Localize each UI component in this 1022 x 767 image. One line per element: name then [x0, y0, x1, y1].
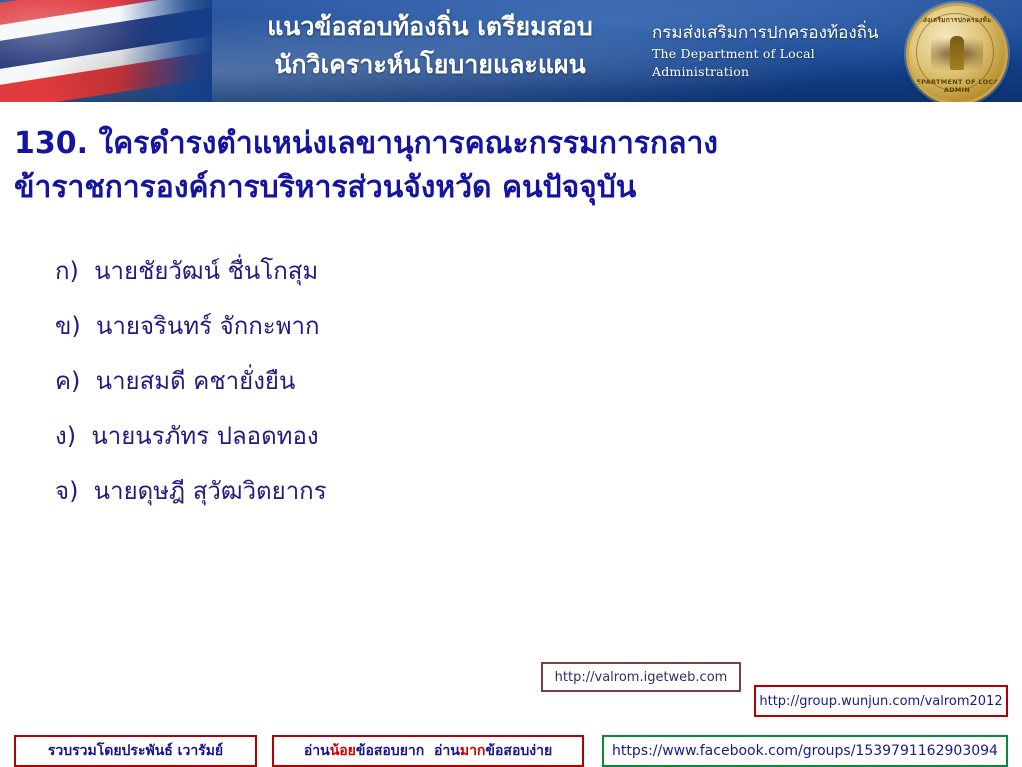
- motto-red-1: น้อย: [330, 740, 356, 762]
- motto-red-2: มาก: [460, 740, 486, 762]
- choice-item-a[interactable]: ก) นายชัยวัฒน์ ชื่นโกสุม: [55, 244, 935, 299]
- question-line-1: 130. ใครดำรงตำแหน่งเลขานุการคณะกรรมการกล…: [14, 122, 1004, 166]
- facebook-group-link[interactable]: https://www.facebook.com/groups/15397911…: [602, 735, 1008, 767]
- banner-title: แนวข้อสอบท้องถิ่น เตรียมสอบ นักวิเคราะห์…: [210, 8, 650, 84]
- question-line-2: ข้าราชการองค์การบริหารส่วนจังหวัด คนปัจจ…: [14, 166, 1004, 210]
- seal-text-bottom: DEPARTMENT OF LOCAL ADMIN: [909, 78, 1005, 94]
- header-banner: แนวข้อสอบท้องถิ่น เตรียมสอบ นักวิเคราะห์…: [0, 0, 1022, 102]
- thai-flag-icon: [0, 0, 212, 102]
- valrom-website-link[interactable]: http://valrom.igetweb.com: [541, 662, 741, 692]
- department-name: กรมส่งเสริมการปกครองท้องถิ่น The Departm…: [652, 22, 912, 81]
- choice-item-e[interactable]: จ) นายดุษฎี สุวัฒวิตยากร: [55, 464, 935, 519]
- choice-list: ก) นายชัยวัฒน์ ชื่นโกสุม ข) นายจรินทร์ จ…: [55, 244, 935, 519]
- banner-title-line1: แนวข้อสอบท้องถิ่น เตรียมสอบ: [267, 12, 593, 41]
- department-name-th: กรมส่งเสริมการปกครองท้องถิ่น: [652, 22, 912, 45]
- wunjun-group-link[interactable]: http://group.wunjun.com/valrom2012: [754, 685, 1008, 717]
- choice-item-b[interactable]: ข) นายจรินทร์ จักกะพาก: [55, 299, 935, 354]
- choice-item-c[interactable]: ค) นายสมดี คชายั่งยืน: [55, 354, 935, 409]
- question-text: 130. ใครดำรงตำแหน่งเลขานุการคณะกรรมการกล…: [14, 122, 1004, 210]
- motto-part-5: ง่าย: [529, 740, 552, 762]
- government-seal-icon: กรมส่งเสริมการปกครองท้องถิ่น DEPARTMENT …: [906, 3, 1008, 102]
- choice-item-d[interactable]: ง) นายนรภัทร ปลอดทอง: [55, 409, 935, 464]
- compiler-credit: รวบรวมโดยประพันธ์ เวารัมย์: [14, 735, 257, 767]
- motto-part-2: ข้อสอบ: [356, 740, 400, 762]
- motto-part-4: ข้อสอบ: [485, 740, 529, 762]
- seal-text-top: กรมส่งเสริมการปกครองท้องถิ่น: [909, 15, 1005, 25]
- department-name-en: The Department of Local Administration: [652, 45, 912, 81]
- banner-title-line2: นักวิเคราะห์นโยบายและแผน: [210, 46, 650, 84]
- motto-part-3: ยาก อ่าน: [400, 740, 460, 762]
- seal-emblem: [931, 34, 983, 74]
- motto-part-1: อ่าน: [304, 740, 330, 762]
- motto-text: อ่านน้อยข้อสอบยาก อ่านมากข้อสอบง่าย: [272, 735, 584, 767]
